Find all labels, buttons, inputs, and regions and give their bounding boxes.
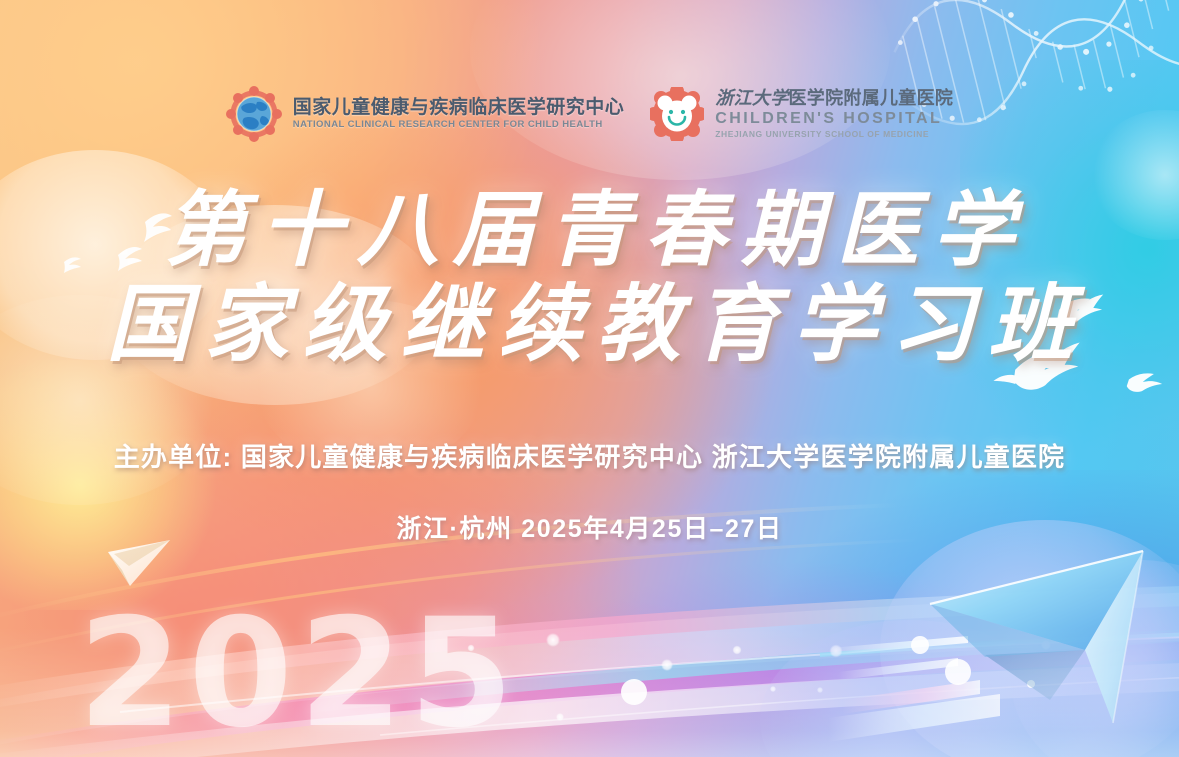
- logo-name-cn-script: 浙江大学: [715, 88, 788, 108]
- logo-childrens-hospital-text: 浙江大学医学院附属儿童医院 CHILDREN'S HOSPITAL ZHEJIA…: [715, 88, 953, 139]
- logo-national-center: 国家儿童健康与疾病临床医学研究中心 NATIONAL CLINICAL RESE…: [226, 86, 625, 142]
- logo-childrens-hospital: 浙江大学医学院附属儿童医院 CHILDREN'S HOSPITAL ZHEJIA…: [650, 87, 953, 141]
- venue-and-date-line: 浙江·杭州 2025年4月25日–27日: [0, 509, 1179, 545]
- bottom-white-fade: [0, 627, 1179, 757]
- background-glow-violet: [520, 560, 1080, 757]
- background-glow-yellow: [0, 360, 230, 610]
- title-line-1: 第十八届青春期医学: [0, 188, 1179, 275]
- cloud-blob: [1010, 560, 1179, 757]
- logo-name-en: NATIONAL CLINICAL RESEARCH CENTER FOR CH…: [293, 119, 625, 131]
- year-watermark: 2025: [78, 599, 519, 749]
- logo-bar: 国家儿童健康与疾病临床医学研究中心 NATIONAL CLINICAL RESE…: [0, 86, 1179, 142]
- organizer-line: 主办单位: 国家儿童健康与疾病临床医学研究中心 浙江大学医学院附属儿童医院: [0, 437, 1179, 474]
- title-line-2: 国家级继续教育学习班: [0, 281, 1179, 370]
- page-title: 第十八届青春期医学 国家级继续教育学习班: [0, 188, 1179, 370]
- cloud-blob: [880, 520, 1179, 757]
- logo-national-center-text: 国家儿童健康与疾病临床医学研究中心 NATIONAL CLINICAL RESE…: [293, 97, 625, 131]
- globe-hands-icon: [226, 86, 282, 142]
- logo-name-cn-rest: 医学院附属儿童医院: [789, 88, 954, 108]
- cloud-blob: [760, 620, 1060, 757]
- logo-name-cn: 浙江大学医学院附属儿童医院: [715, 88, 953, 109]
- logo-name-en-sub: ZHEJIANG UNIVERSITY SCHOOL OF MEDICINE: [715, 129, 953, 140]
- logo-name-en: CHILDREN'S HOSPITAL: [715, 109, 953, 129]
- smiling-bear-icon: [650, 87, 704, 141]
- background-glow-pink: [250, 600, 870, 757]
- conference-poster: 2025: [0, 0, 1179, 757]
- logo-name-cn: 国家儿童健康与疾病临床医学研究中心: [293, 97, 625, 119]
